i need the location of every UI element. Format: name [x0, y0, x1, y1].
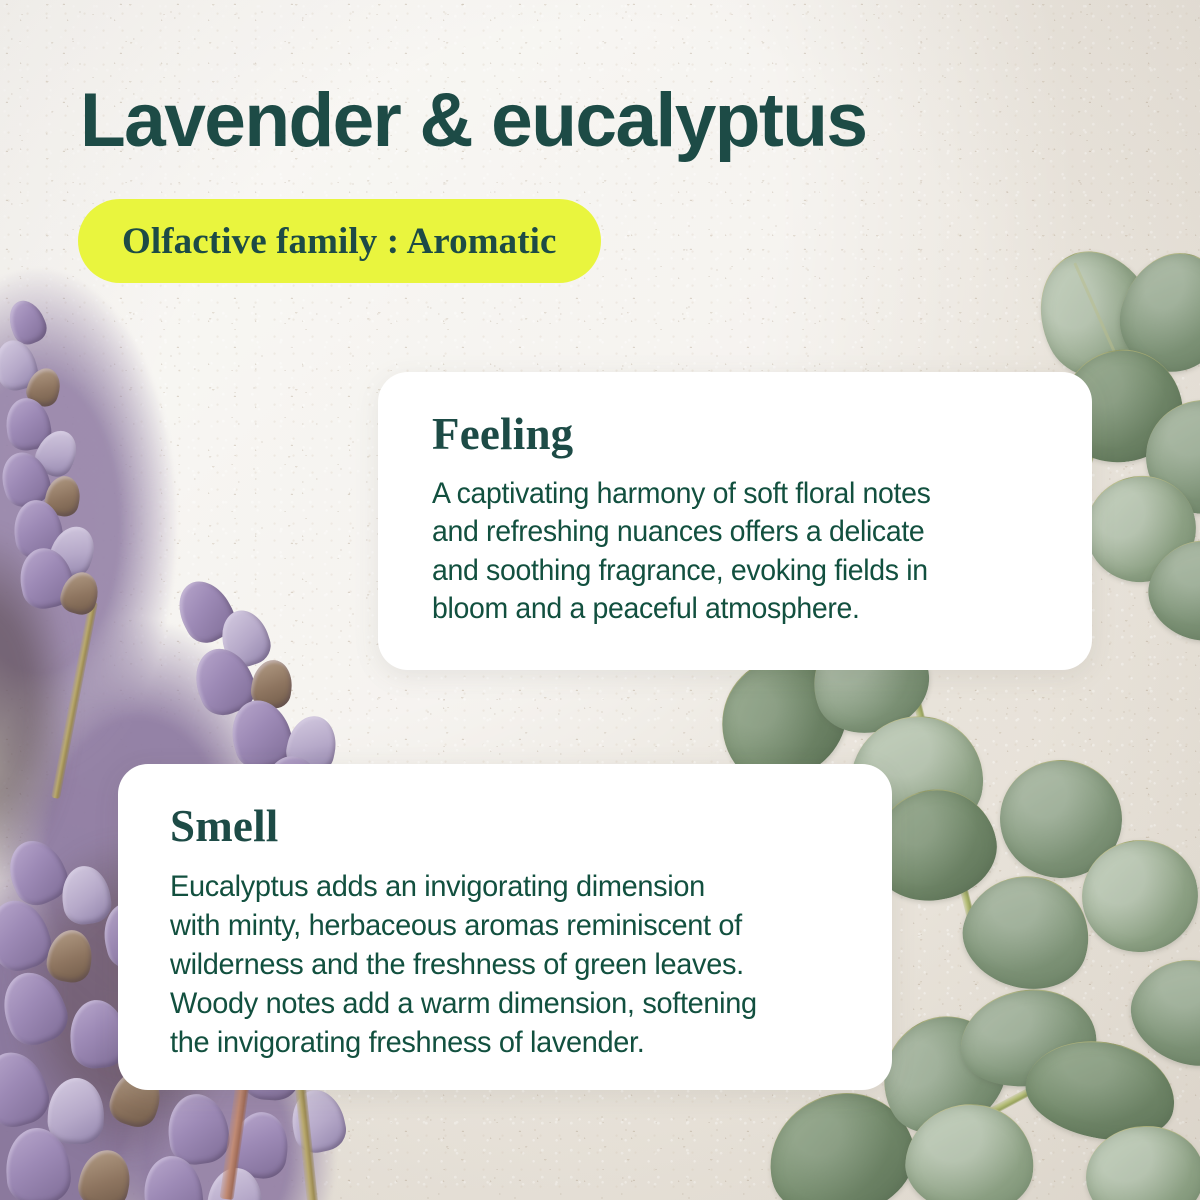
lavender-floret: [214, 604, 275, 671]
lavender-floret: [286, 1085, 350, 1156]
lavender-floret: [75, 1145, 136, 1200]
lavender-floret: [14, 543, 77, 613]
lavender-floret: [10, 497, 66, 561]
lavender-floret: [42, 473, 84, 519]
lavender-floret: [205, 1165, 265, 1200]
lavender-floret: [3, 295, 51, 349]
lavender-floret: [0, 832, 75, 912]
lavender-floret: [224, 693, 298, 774]
feeling-card-body: A captivating harmony of soft floral not…: [432, 475, 1025, 628]
poster-canvas: Lavender & eucalyptus Olfactive family :…: [0, 0, 1200, 1200]
lavender-floret: [0, 893, 57, 977]
lavender-floret: [168, 572, 241, 650]
lavender-floret: [0, 336, 41, 394]
lavender-floret: [47, 1077, 105, 1145]
lavender-floret: [58, 863, 114, 927]
lavender-floret: [186, 640, 263, 722]
olfactive-family-badge: Olfactive family : Aromatic: [78, 199, 601, 283]
lavender-floret: [2, 395, 54, 454]
lavender-floret: [3, 1126, 72, 1200]
lavender-floret: [141, 1153, 206, 1200]
olfactive-family-badge-label: Olfactive family : Aromatic: [122, 220, 557, 263]
lavender-floret: [44, 927, 96, 986]
smell-card: Smell Eucalyptus adds an invigorating di…: [118, 764, 892, 1090]
lavender-floret: [249, 657, 295, 710]
lavender-floret: [228, 1108, 293, 1181]
lavender-floret: [163, 1090, 232, 1168]
smell-card-heading: Smell: [170, 804, 846, 849]
lavender-floret: [30, 424, 84, 482]
lavender-floret: [0, 1045, 55, 1133]
smell-card-body: Eucalyptus adds an invigorating dimensio…: [170, 867, 822, 1062]
lavender-floret: [23, 364, 65, 410]
lavender-floret: [0, 446, 55, 512]
lavender-floret: [44, 520, 102, 582]
lavender-stem-upper: [51, 601, 98, 799]
feeling-card-heading: Feeling: [432, 412, 1046, 457]
feeling-card: Feeling A captivating harmony of soft fl…: [378, 372, 1092, 670]
lavender-floret: [57, 568, 103, 618]
page-title: Lavender & eucalyptus: [80, 82, 1114, 160]
lavender-floret: [0, 964, 75, 1052]
